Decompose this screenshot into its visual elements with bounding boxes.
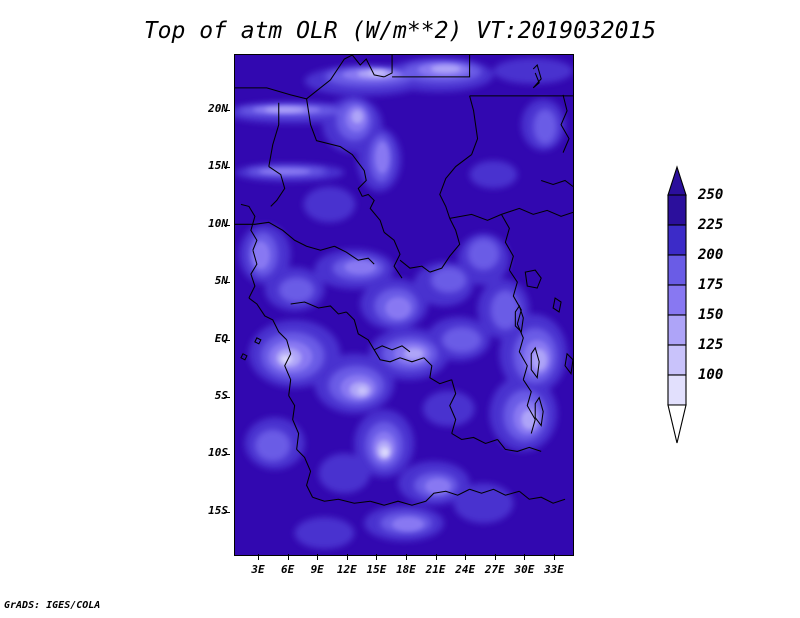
colorbar-band <box>668 225 686 255</box>
colorbar-band <box>668 255 686 285</box>
y-axis-label: 5N <box>194 274 228 287</box>
map-plot-area <box>234 54 574 556</box>
x-axis-tick <box>258 554 259 560</box>
x-axis-tick <box>436 554 437 560</box>
x-axis-tick <box>347 554 348 560</box>
colorbar-band <box>668 315 686 345</box>
x-axis-tick <box>376 554 377 560</box>
x-axis-label: 33E <box>534 563 574 576</box>
y-axis-label: EQ <box>194 332 228 345</box>
y-axis: 20N15N10N5NEQ5S10S15S <box>190 54 228 556</box>
y-axis-label: 10S <box>194 446 228 459</box>
colorbar-label: 250 <box>698 188 723 202</box>
y-axis-tick <box>224 225 230 226</box>
colorbar-label: 125 <box>698 338 723 352</box>
y-axis-tick <box>224 282 230 283</box>
y-axis-tick <box>224 110 230 111</box>
page-title: Top of atm OLR (W/m**2) VT:2019032015 <box>0 18 800 44</box>
y-axis-label: 10N <box>194 217 228 230</box>
y-axis-label: 20N <box>194 102 228 115</box>
colorbar-top-arrow <box>668 167 686 195</box>
x-axis: 3E6E9E12E15E18E21E24E27E30E33E <box>234 560 574 580</box>
colorbar-label: 175 <box>698 278 723 292</box>
x-axis-tick <box>317 554 318 560</box>
colorbar-label: 150 <box>698 308 723 322</box>
y-axis-label: 15S <box>194 504 228 517</box>
y-axis-tick <box>224 454 230 455</box>
y-axis-tick <box>224 340 230 341</box>
colorbar-swatches <box>662 165 702 445</box>
colorbar-band <box>668 195 686 225</box>
x-axis-tick <box>406 554 407 560</box>
x-axis-tick <box>524 554 525 560</box>
colorbar-band <box>668 285 686 315</box>
colorbar: 250225200175150125100 <box>662 165 782 445</box>
colorbar-label: 100 <box>698 368 723 382</box>
y-axis-tick <box>224 167 230 168</box>
olr-heatmap <box>235 55 573 555</box>
colorbar-band <box>668 345 686 375</box>
credit-text: GrADS: IGES/COLA <box>4 600 100 611</box>
x-axis-tick <box>495 554 496 560</box>
colorbar-label: 225 <box>698 218 723 232</box>
y-axis-tick <box>224 397 230 398</box>
x-axis-tick <box>288 554 289 560</box>
colorbar-label: 200 <box>698 248 723 262</box>
colorbar-bottom-arrow <box>668 405 686 443</box>
x-axis-tick <box>465 554 466 560</box>
y-axis-label: 15N <box>194 159 228 172</box>
colorbar-band <box>668 375 686 405</box>
y-axis-tick <box>224 512 230 513</box>
x-axis-tick <box>554 554 555 560</box>
y-axis-label: 5S <box>194 389 228 402</box>
